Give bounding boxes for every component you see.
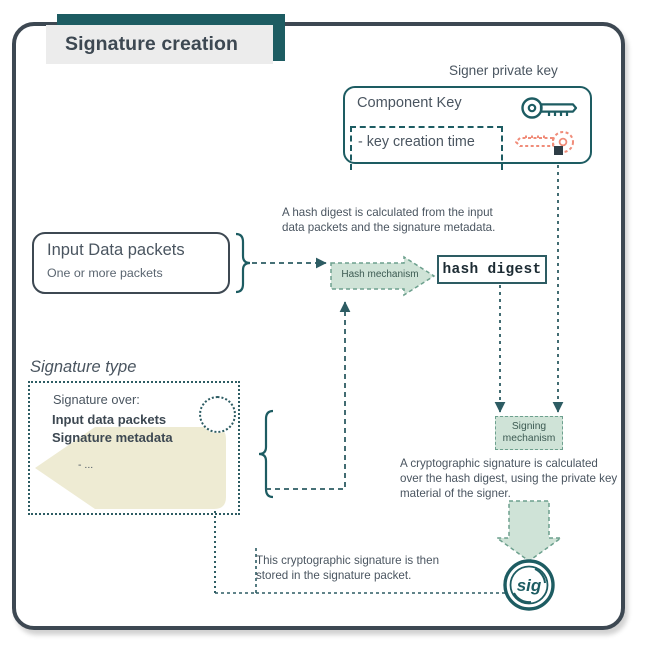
hash-digest-label: hash digest (442, 262, 541, 278)
banner-title-box: Signature creation (46, 25, 273, 64)
signing-mechanism-label: Signing mechanism (496, 421, 562, 445)
signature-over-item-signature-metadata: Signature metadata (52, 430, 173, 445)
signature-over-ellipsis: - ... (78, 459, 93, 471)
svg-text:sig: sig (517, 576, 542, 595)
hash-explanation-note: A hash digest is calculated from the inp… (282, 205, 497, 235)
signing-explanation-note: A cryptographic signature is calculated … (400, 456, 622, 501)
diagram-canvas: Signature creation Signer private key Co… (0, 0, 649, 661)
input-data-packets-title: Input Data packets (47, 241, 185, 260)
stored-signature-note: This cryptographic signature is then sto… (256, 553, 456, 583)
signature-over-item-input-data-packets: Input data packets (52, 412, 166, 427)
key-dashed-icon (513, 128, 575, 156)
signing-mechanism-box: Signing mechanism (495, 416, 563, 450)
hash-digest-box: hash digest (437, 255, 547, 284)
page-title: Signature creation (46, 33, 238, 56)
private-key-connector-node (554, 146, 563, 155)
input-data-packets-subtitle: One or more packets (47, 266, 163, 280)
hash-mechanism-label: Hash mechanism (337, 269, 423, 280)
key-creation-time-label: - key creation time (358, 134, 475, 150)
key-icon (521, 95, 579, 121)
signature-metadata-circle-marker (199, 396, 236, 433)
signature-type-title: Signature type (30, 358, 136, 377)
signing-output-arrow (496, 500, 562, 562)
signature-over-label: Signature over: (53, 392, 140, 407)
component-key-label: Component Key (357, 95, 462, 111)
signature-seal-icon: sig (501, 557, 557, 613)
signer-private-key-heading: Signer private key (449, 63, 558, 78)
